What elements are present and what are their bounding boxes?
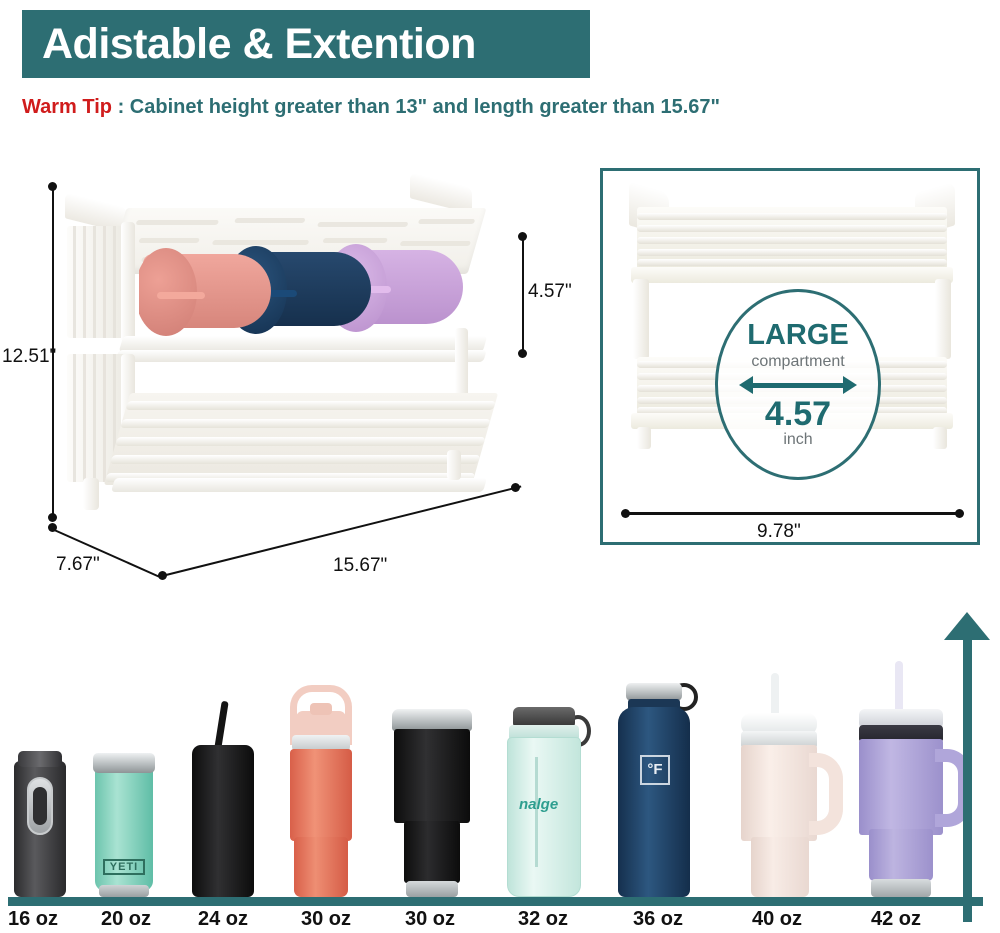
large-compartment-callout-box: LARGE compartment 4.57 inch 9.78" (600, 168, 980, 545)
dim-height-dot-bottom (48, 513, 57, 522)
dim-width-dot-right (511, 483, 520, 492)
mini-rack-leg-upper-right (935, 279, 951, 359)
bottle-16oz (14, 749, 66, 897)
bottle-36oz: °F (618, 665, 690, 897)
bottle-20oz: YETI (93, 747, 155, 897)
oval-headline: LARGE (747, 321, 849, 350)
mini-rack-top-frame (631, 267, 953, 283)
dim-compartment-line (522, 236, 524, 352)
up-arrow-icon-head (944, 612, 990, 640)
rack-middle-shelf-front (115, 350, 486, 362)
warm-tip: Warm Tip : Cabinet height greater than 1… (22, 96, 720, 119)
warm-tip-label: Warm Tip (22, 96, 112, 118)
bottle-30oz-b (392, 709, 472, 897)
warm-tip-separator: : (112, 96, 130, 118)
callout-width-dot-right (955, 509, 964, 518)
title-banner: Adistable & Extention (22, 10, 590, 78)
warm-tip-text: Cabinet height greater than 13" and leng… (130, 96, 720, 118)
callout-width-label: 9.78" (757, 521, 801, 543)
bottle-32oz: nalge (505, 687, 583, 897)
rack-post-upper-left (121, 222, 135, 342)
bottle-30oz-a (288, 660, 354, 897)
callout-width-line (627, 512, 957, 515)
oz-label-42: 42 oz (871, 908, 921, 931)
bottle-20oz-brand: YETI (103, 859, 145, 875)
large-compartment-oval: LARGE compartment 4.57 inch (715, 289, 881, 480)
mini-rack-top-shelf (637, 207, 947, 269)
bottle-size-chart: YETI nalge °F (0, 600, 1000, 933)
dim-width-label: 15.67" (333, 555, 387, 577)
oval-subhead: compartment (751, 353, 844, 371)
up-arrow-icon-stem (963, 630, 972, 922)
bottle-36oz-brand: °F (640, 755, 670, 785)
oz-label-36: 36 oz (633, 908, 683, 931)
rack-foot-left (83, 478, 99, 510)
oz-label-20: 20 oz (101, 908, 151, 931)
tumbler-group (139, 240, 469, 348)
page-title: Adistable & Extention (22, 23, 476, 66)
oz-label-24: 24 oz (198, 908, 248, 931)
size-chart-baseline (8, 897, 983, 906)
dim-height-label: 12.51" (2, 346, 56, 368)
tumbler-coral-straw (157, 292, 205, 299)
oz-label-16: 16 oz (8, 908, 58, 931)
double-arrow-icon (739, 376, 857, 394)
rack-foot-right (447, 450, 461, 480)
dim-compartment-dot-bottom (518, 349, 527, 358)
rack-side-panel-upper (67, 226, 127, 338)
bottle-42oz (855, 661, 973, 897)
dim-depth-label: 7.67" (56, 554, 100, 576)
bottle-32oz-brand: nalge (519, 796, 558, 813)
oz-label-30-a: 30 oz (301, 908, 351, 931)
main-rack-illustration (55, 178, 525, 568)
rack-base-frame (111, 478, 487, 492)
oval-unit: inch (783, 431, 812, 449)
mini-rack-leg-upper-left (633, 279, 649, 359)
dim-compartment-label: 4.57" (528, 281, 572, 303)
oz-label-40: 40 oz (752, 908, 802, 931)
oval-value: 4.57 (765, 397, 831, 431)
mini-rack-foot-left (637, 427, 651, 449)
oz-label-30-b: 30 oz (405, 908, 455, 931)
rack-bottom-deck (104, 393, 498, 485)
oz-label-32: 32 oz (518, 908, 568, 931)
bottle-40oz (735, 671, 845, 897)
bottle-24oz (192, 704, 254, 897)
mini-rack-foot-right (933, 427, 947, 449)
